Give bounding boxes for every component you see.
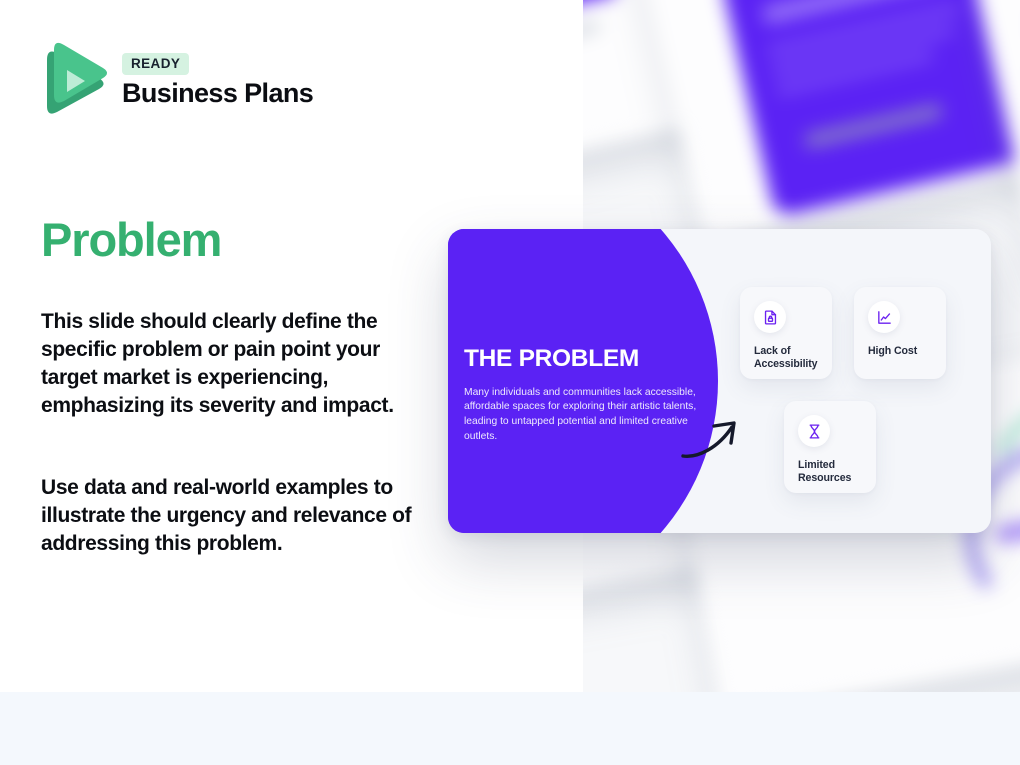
- curved-arrow-icon: [680, 414, 742, 467]
- feature-tile[interactable]: Limited Resources: [784, 401, 876, 493]
- bottom-strip: [0, 692, 1020, 765]
- purple-panel-text: THE PROBLEM Many individuals and communi…: [464, 347, 699, 445]
- body-paragraph-1: This slide should clearly define the spe…: [41, 308, 431, 420]
- brand-text: READY Business Plans: [122, 49, 313, 109]
- slide-kicker: THE PROBLEM: [464, 347, 699, 372]
- backdrop-slide: [631, 0, 1020, 244]
- document-lock-icon: [754, 301, 786, 333]
- page-title: Problem: [41, 216, 221, 263]
- feature-tile-label: Lack of Accessibility: [754, 345, 818, 371]
- brand-title: Business Plans: [122, 78, 313, 109]
- slide-page: READY Business Plans Problem This slide …: [0, 0, 1020, 765]
- body-paragraph-2: Use data and real-world examples to illu…: [41, 474, 431, 558]
- line-chart-icon: [868, 301, 900, 333]
- slide-body: Many individuals and communities lack ac…: [464, 386, 699, 446]
- play-triangle-logo: [41, 40, 108, 118]
- hourglass-icon: [798, 415, 830, 447]
- slide-preview-card[interactable]: THE PROBLEM Many individuals and communi…: [448, 229, 991, 533]
- feature-tile[interactable]: High Cost: [854, 287, 946, 379]
- feature-tile[interactable]: Lack of Accessibility: [740, 287, 832, 379]
- feature-tile-label: Limited Resources: [798, 459, 862, 485]
- brand-lockup: READY Business Plans: [41, 40, 313, 118]
- feature-tile-label: High Cost: [868, 345, 932, 358]
- ready-badge: READY: [122, 53, 189, 75]
